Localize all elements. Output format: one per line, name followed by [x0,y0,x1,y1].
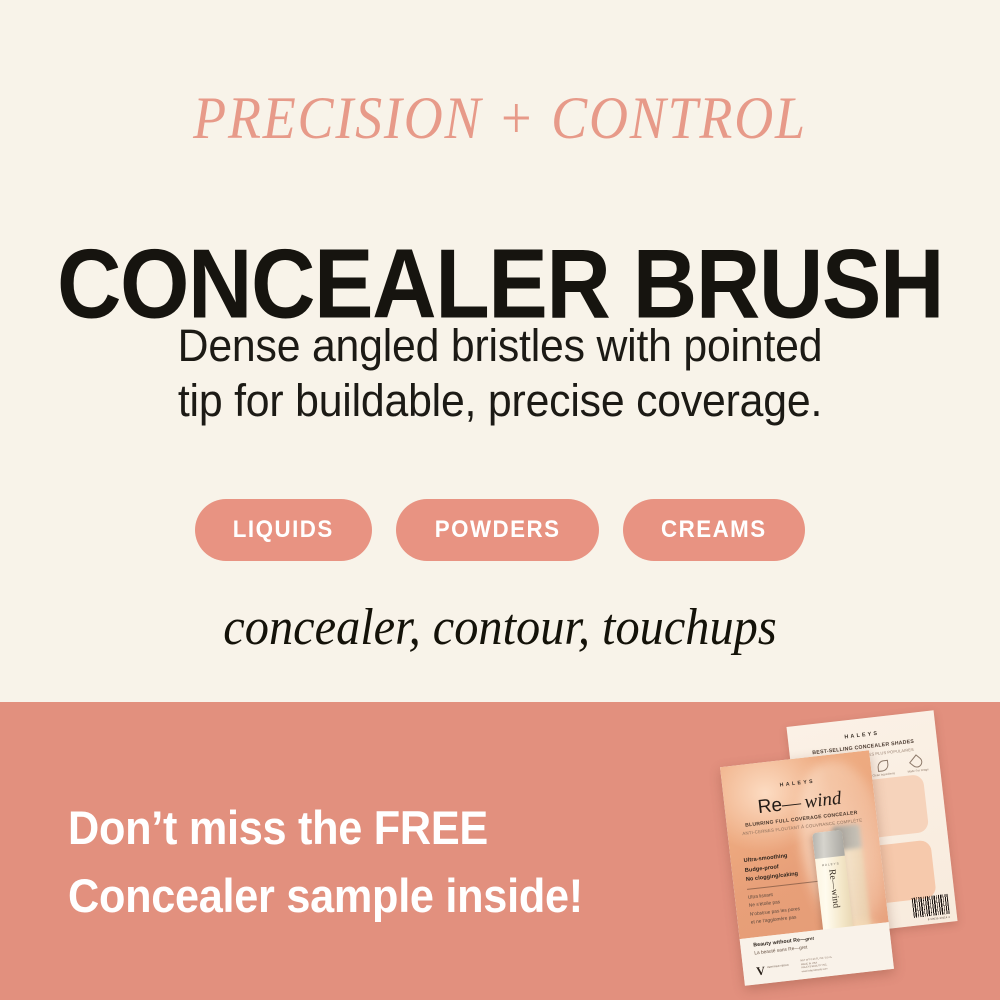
concealer-tube-brand: HALEYS [816,861,846,868]
promo-line-2: Concealer sample inside! [68,862,657,930]
rewind-logo-re: Re [757,794,784,818]
concealer-tube-cap [812,830,845,859]
rewind-logo-dash: — [781,792,801,815]
tagline-text: concealer, contour, touchups [35,602,965,654]
use-case-pill-row: LIQUIDS POWDERS CREAMS [0,499,1000,561]
pill-powders[interactable]: POWDERS [396,499,599,561]
icon-cell-clean: Clean Ingredients [868,759,898,778]
description-line-2: tip for buildable, precise coverage. [82,373,918,428]
rewind-sample-card: HALEYS Re— wind BLURRING FULL COVERAGE C… [720,750,894,986]
leaf-icon [877,760,889,772]
promo-banner: Don’t miss the FREE Concealer sample ins… [0,702,1000,1000]
description-line-1: Dense angled bristles with pointed [82,318,918,373]
description-text: Dense angled bristles with pointed tip f… [82,318,918,428]
vegan-icon: V [756,964,766,977]
product-graphic-canvas: PRECISION + CONTROL CONCEALER BRUSH Dens… [0,0,1000,1000]
barcode-icon [912,894,950,918]
product-packaging-image: HALEYS BEST-SELLING CONCEALER SHADES TEI… [690,702,1000,1000]
concealer-tube-label: Re—wind [826,869,839,896]
pill-creams[interactable]: CREAMS [623,499,805,561]
barcode-number: 8 50035 20114 2 [928,916,950,922]
pill-powders-label: POWDERS [435,516,561,544]
pill-liquids-label: LIQUIDS [233,516,334,544]
front-card-slogan-italic: gret [805,936,814,943]
eyebrow-text: PRECISION + CONTROL [50,88,950,148]
hero-panel: PRECISION + CONTROL CONCEALER BRUSH Dens… [0,0,1000,702]
promo-banner-text: Don’t miss the FREE Concealer sample ins… [68,794,657,930]
heart-icon-caption: Made For Image [904,768,932,775]
promo-line-1: Don’t miss the FREE [68,794,657,862]
icon-cell-made-for: Made For Image [903,755,933,774]
pill-creams-label: CREAMS [661,516,767,544]
rewind-logo-wind: wind [803,788,842,813]
pill-liquids[interactable]: LIQUIDS [195,499,372,561]
